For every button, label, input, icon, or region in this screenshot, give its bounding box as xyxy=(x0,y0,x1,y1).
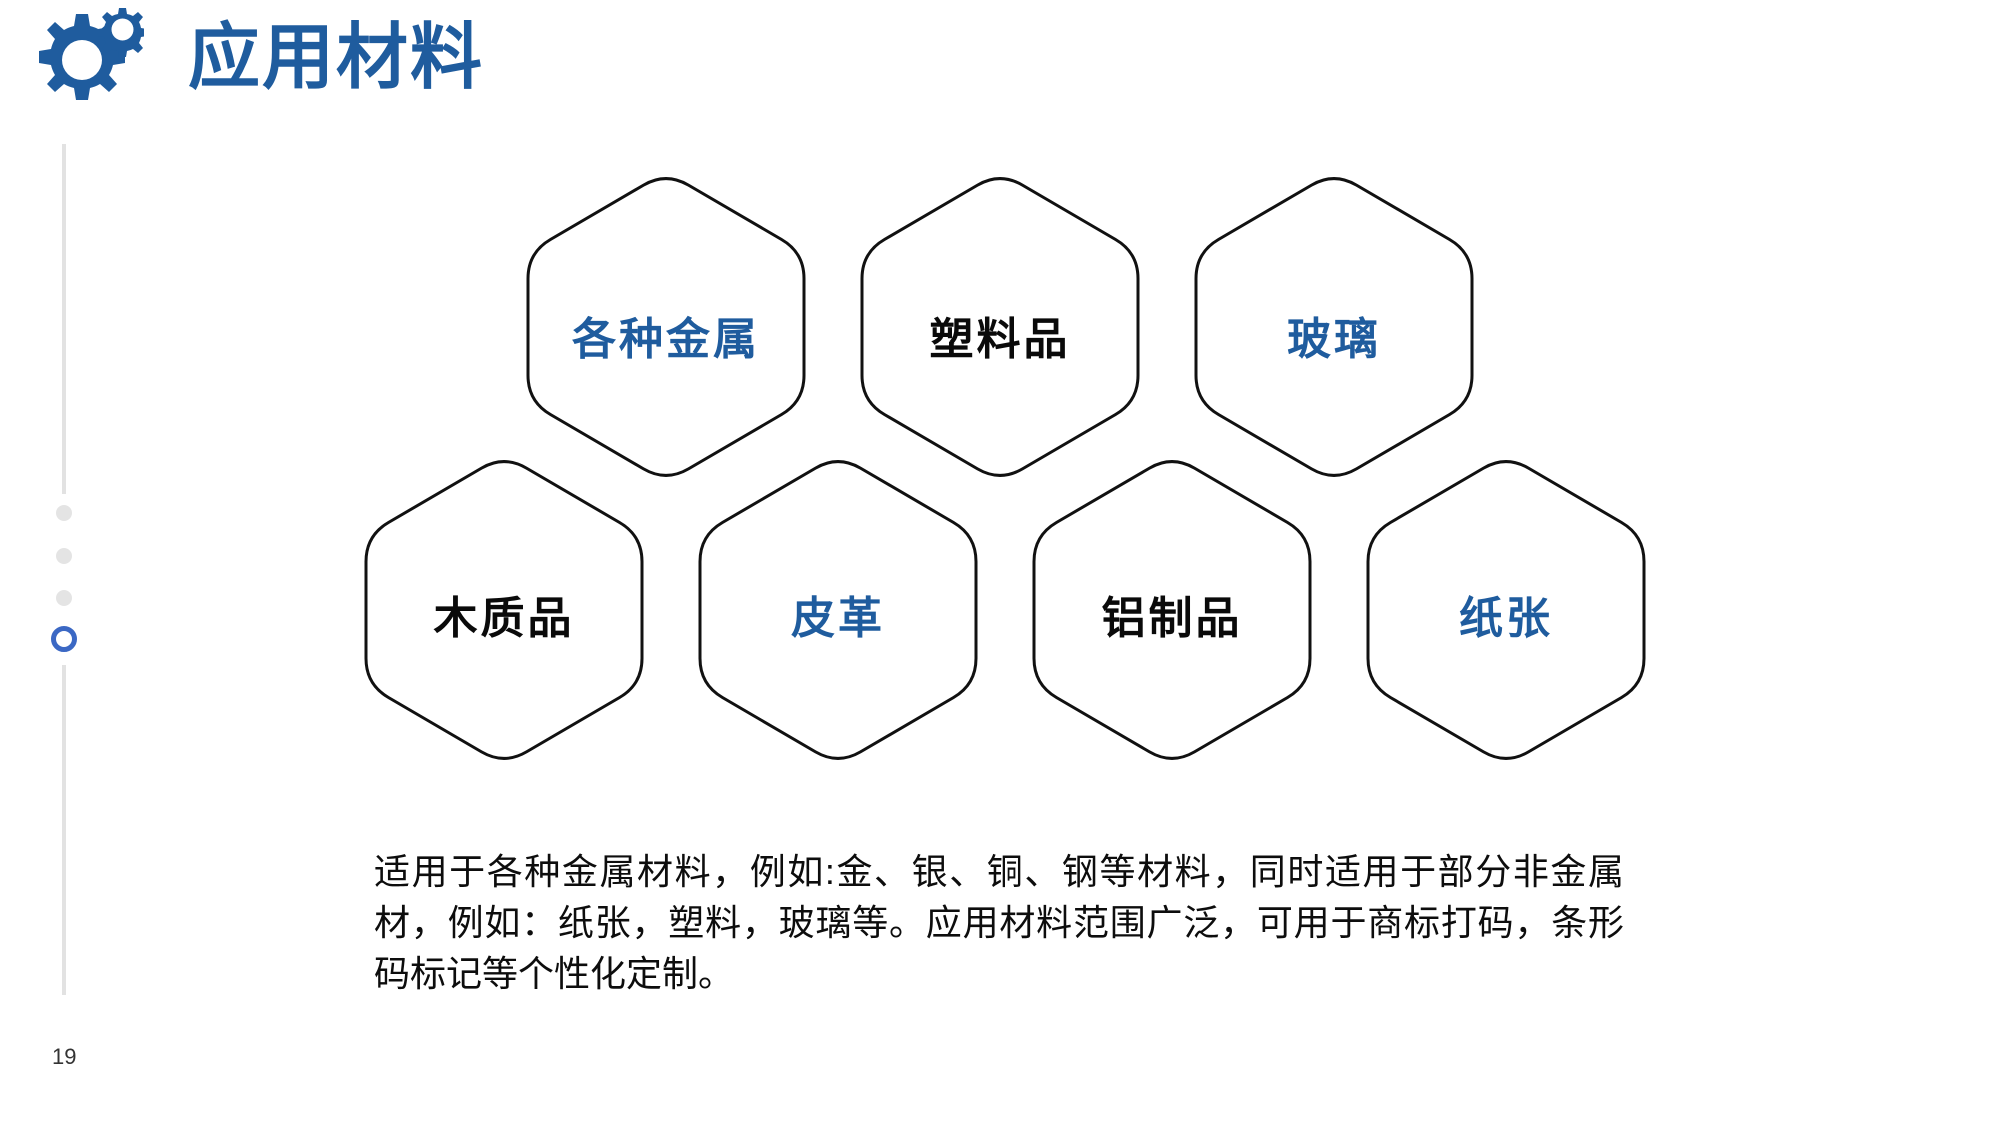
hexagon-label-4: 木质品 xyxy=(434,582,575,646)
rail-line-bottom xyxy=(62,665,66,995)
hexagon-label-2: 塑料品 xyxy=(930,303,1071,367)
slide-canvas: 应用材料 19 各种金属塑料品玻璃木质品皮革铝制品纸张 适用于各种金属材料，例如… xyxy=(0,0,2000,1125)
slide-progress-rail xyxy=(0,130,110,1010)
rail-dot-2[interactable] xyxy=(56,548,72,564)
rail-line-top xyxy=(62,144,66,494)
body-paragraph: 适用于各种金属材料，例如:金、银、铜、钢等材料，同时适用于部分非金属材，例如：纸… xyxy=(374,846,1624,999)
gears-icon xyxy=(14,2,144,122)
page-number: 19 xyxy=(52,1044,76,1070)
hexagon-label-7: 纸张 xyxy=(1459,582,1553,646)
rail-dot-3[interactable] xyxy=(56,590,72,606)
hexagon-label-3: 玻璃 xyxy=(1287,303,1381,367)
hexagon-label-1: 各种金属 xyxy=(572,303,760,367)
hexagon-label-5: 皮革 xyxy=(791,582,885,646)
rail-dot-1[interactable] xyxy=(56,505,72,521)
hexagon-label-6: 铝制品 xyxy=(1102,582,1243,646)
page-title: 应用材料 xyxy=(188,22,484,94)
rail-dot-active[interactable] xyxy=(51,626,77,652)
